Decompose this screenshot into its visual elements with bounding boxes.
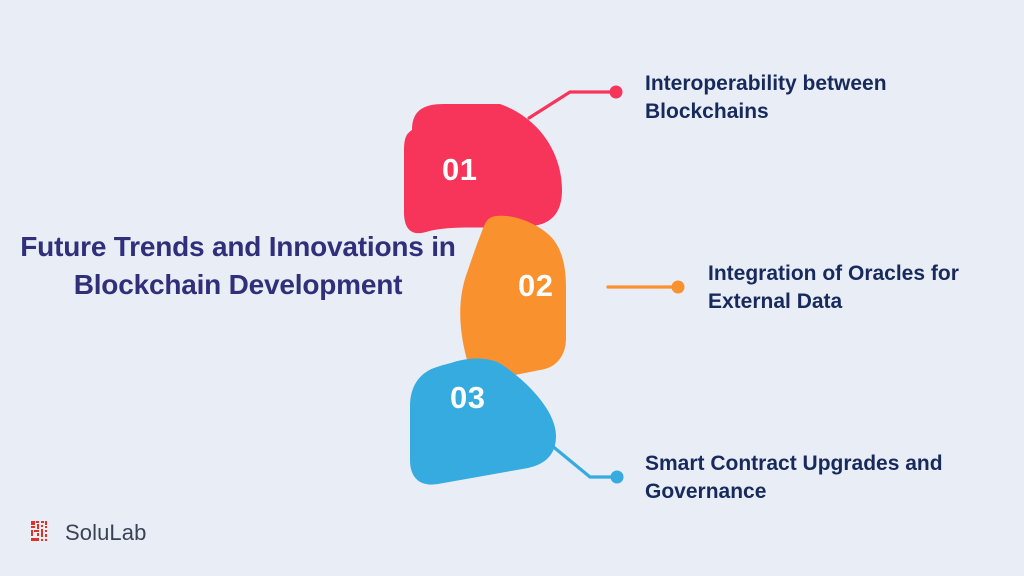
step-shape-01[interactable] — [404, 104, 562, 233]
step-shape-02[interactable] — [460, 216, 566, 379]
step-label-01: Interoperability between Blockchains — [645, 70, 975, 125]
step-shape-group: 01 02 03 — [390, 90, 590, 500]
infographic-canvas: Future Trends and Innovations in Blockch… — [0, 0, 1024, 576]
brand-name: SoluLab — [65, 520, 146, 546]
step-shapes-svg — [390, 90, 590, 500]
solulab-mark-icon — [30, 520, 56, 546]
connector-dot-03 — [611, 471, 624, 484]
brand-logo: SoluLab — [30, 520, 146, 546]
connector-dot-02 — [672, 281, 685, 294]
step-label-02: Integration of Oracles for External Data — [708, 260, 1008, 315]
step-shape-03[interactable] — [410, 359, 556, 485]
step-label-03: Smart Contract Upgrades and Governance — [645, 450, 985, 505]
connector-dot-01 — [610, 86, 623, 99]
